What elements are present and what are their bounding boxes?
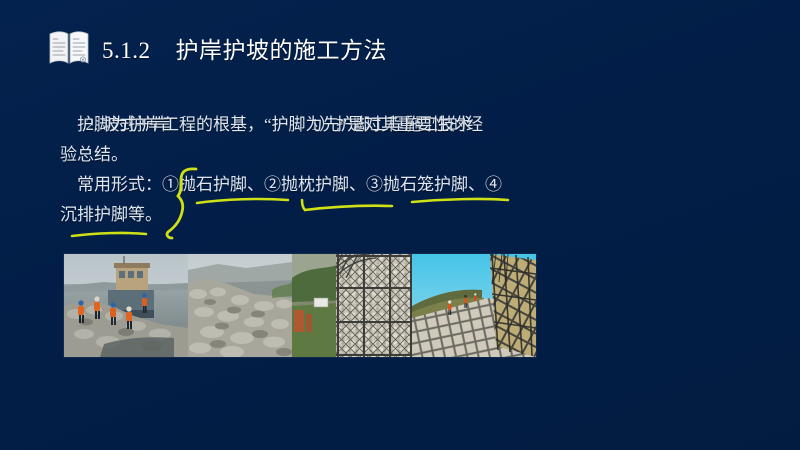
body-line-4: 常用形式：①抛石护脚、②抛枕护脚、③抛石笼护脚、④: [60, 170, 580, 200]
photo-riprap-bank-slope: [188, 254, 292, 357]
body-text-block: 2. 坡式护岸1）护脚工程施工技术 护脚为护岸工程的根基，“护脚为先”是对其重要…: [60, 80, 580, 230]
page-title: 5.1.2 护岸护坡的施工方法: [102, 31, 387, 65]
body-line-3: 验总结。: [60, 140, 580, 170]
body-line-5: 沉排护脚等。: [60, 200, 580, 230]
body-line-1: 2. 坡式护岸1）护脚工程施工技术: [60, 80, 580, 110]
open-book-icon: [48, 29, 90, 67]
annotation-underline-4: [72, 233, 146, 236]
slide-title-row: 5.1.2 护岸护坡的施工方法: [48, 26, 387, 70]
slide-canvas: 5.1.2 护岸护坡的施工方法 2. 坡式护岸1）护脚工程施工技术 护脚为护岸工…: [0, 0, 800, 450]
photo-concrete-block-mattress: [412, 254, 536, 357]
photo-strip: [64, 254, 536, 357]
photo-gabion-stone-cage: [292, 254, 412, 357]
body-line-2: 护脚为护岸工程的根基，“护脚为先”是对其重要性的经: [60, 110, 580, 140]
photo-riprap-placement-boat: [64, 254, 188, 357]
